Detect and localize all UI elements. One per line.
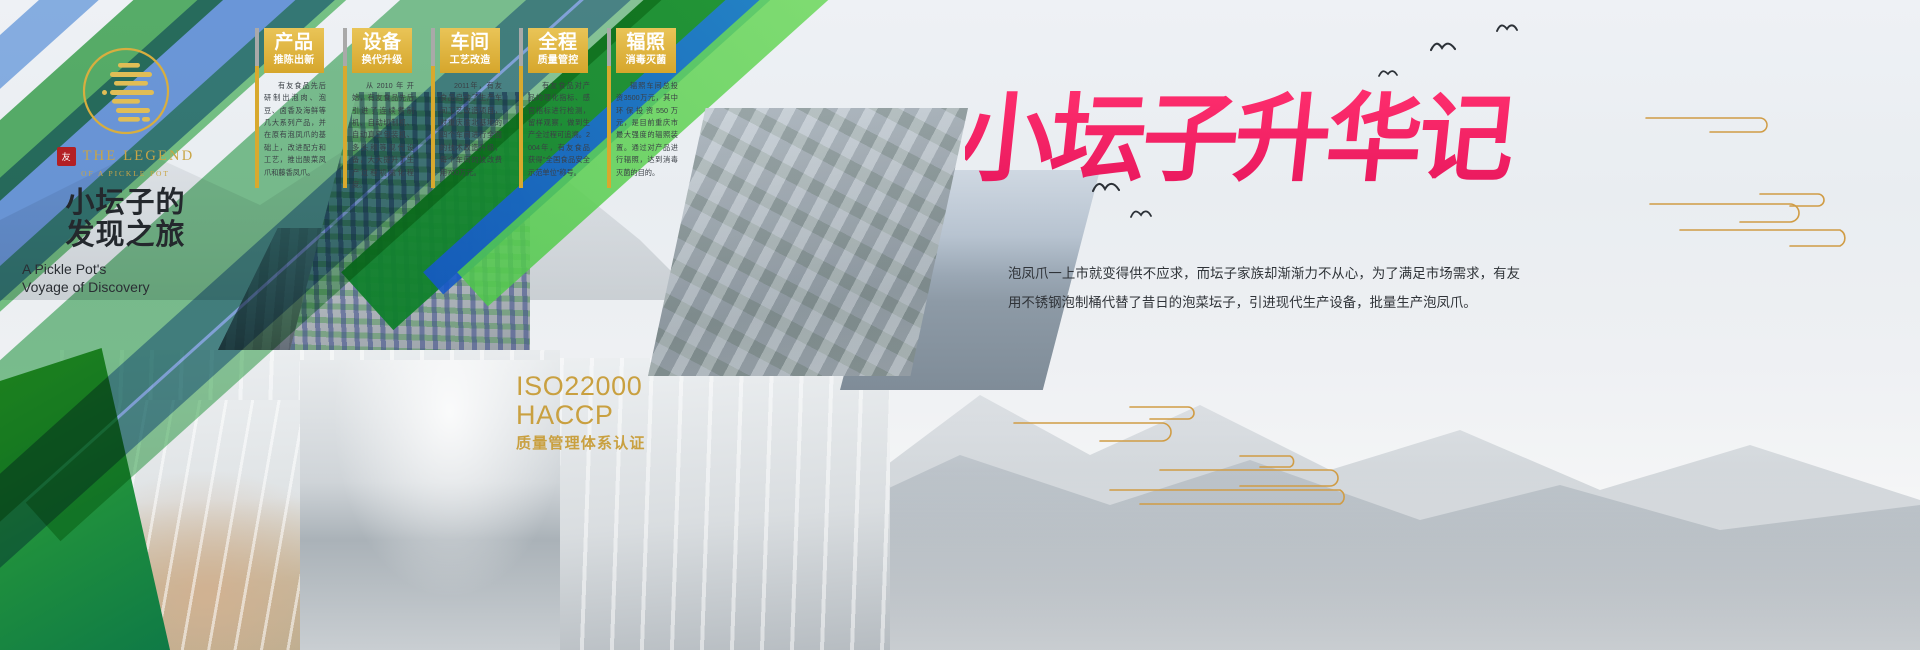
bird-icon-2 [1496,22,1518,34]
column-head-title: 全程 [528,33,588,53]
brand-title-en-line2: Voyage of Discovery [22,278,233,296]
column-head-sub: 工艺改造 [440,55,500,67]
column-head-sub: 消毒灭菌 [616,55,676,67]
brand-title-cn: 小坛子的 发现之旅 [18,187,233,252]
bird-icon-4 [1092,180,1120,195]
cloud-ornament-lower [1100,448,1380,508]
cloud-ornament-under-title [1640,108,1810,142]
column-body-text: 从2010年开始，有友食品先后引进了连续煮制机、自动切制机、自动真空包装机、多头… [352,80,414,191]
legend-row: 友 THE LEGEND [18,147,233,166]
feature-columns: 产品 推陈出新 有友食品先后研制出泡肉、泡豆、卤香及海鲜等几大系列产品，并在原有… [255,28,679,191]
hero-paragraph: 泡凤爪一上市就变得供不应求，而坛子家族却渐渐力不从心，为了满足市场需求，有友用不… [1008,260,1520,318]
column-body-text: 2011年，有友食品启动了生产车间工艺改造项目，对重庆渝北基地的四个车间进行全面… [440,80,502,179]
column-head-title: 设备 [352,33,412,53]
feature-column-product[interactable]: 产品 推陈出新 有友食品先后研制出泡肉、泡豆、卤香及海鲜等几大系列产品，并在原有… [255,28,327,191]
column-header: 设备 换代升级 [352,28,412,73]
legend-en: THE LEGEND [83,148,195,165]
calligraphy-text: 小坛子升华记 [965,83,1519,195]
column-header: 车间 工艺改造 [440,28,500,73]
column-body-text: 有友食品先后研制出泡肉、泡豆、卤香及海鲜等几大系列产品，并在原有泡凤爪的基础上，… [264,80,326,179]
certification-cn: 质量管理体系认证 [516,432,646,453]
column-head-sub: 换代升级 [352,55,412,67]
chop-seal-icon: 友 [57,147,76,166]
column-header: 辐照 消毒灭菌 [616,28,676,73]
brand-title-en-line1: A Pickle Pot's [22,260,233,278]
column-head-sub: 质量管控 [528,55,588,67]
legend-wordmark: THE LEGEND [83,148,195,165]
brand-lockup: 友 THE LEGEND OF A PICKLE POT 小坛子的 发现之旅 A… [18,45,233,296]
column-header: 全程 质量管控 [528,28,588,73]
brand-title-cn-line2: 发现之旅 [18,219,233,251]
poster-canvas: 友 THE LEGEND OF A PICKLE POT 小坛子的 发现之旅 A… [0,0,1920,650]
column-body-text: 有友食品对产品的理化指标、感官指标进行检测，留样观察，做到生产全过程可追溯。20… [528,80,590,179]
column-head-sub: 推陈出新 [264,55,324,67]
feature-column-workshop[interactable]: 车间 工艺改造 2011年，有友食品启动了生产车间工艺改造项目，对重庆渝北基地的… [431,28,503,191]
column-header: 产品 推陈出新 [264,28,324,73]
hero-calligraphy-title: 小坛子升华记 [965,80,1525,200]
brand-title-en: A Pickle Pot's Voyage of Discovery [18,260,233,296]
feature-column-quality[interactable]: 全程 质量管控 有友食品对产品的理化指标、感官指标进行检测，留样观察，做到生产全… [519,28,591,191]
brand-title-cn-line1: 小坛子的 [18,187,233,219]
column-head-title: 辐照 [616,33,676,53]
column-body-text: 辐照车间总投资3500万元，其中环保投资550万元，是目前重庆市最大强度的辐照装… [616,80,678,179]
seal-stamp-icon [80,45,172,137]
feature-column-irradiation[interactable]: 辐照 消毒灭菌 辐照车间总投资3500万元，其中环保投资550万元，是目前重庆市… [607,28,679,191]
bird-icon-1 [1430,40,1456,54]
bird-icon-5 [1130,208,1152,220]
certification-haccp: HACCP [516,401,646,430]
column-head-title: 产品 [264,33,324,53]
column-head-title: 车间 [440,33,500,53]
bird-icon-3 [1378,68,1398,79]
feature-column-equipment[interactable]: 设备 换代升级 从2010年开始，有友食品先后引进了连续煮制机、自动切制机、自动… [343,28,415,191]
cloud-ornament-top-right [1640,190,1870,250]
certification-iso: ISO22000 [516,372,646,401]
certification-block: ISO22000 HACCP 质量管理体系认证 [516,372,646,453]
legend-sub: OF A PICKLE POT [18,169,233,178]
